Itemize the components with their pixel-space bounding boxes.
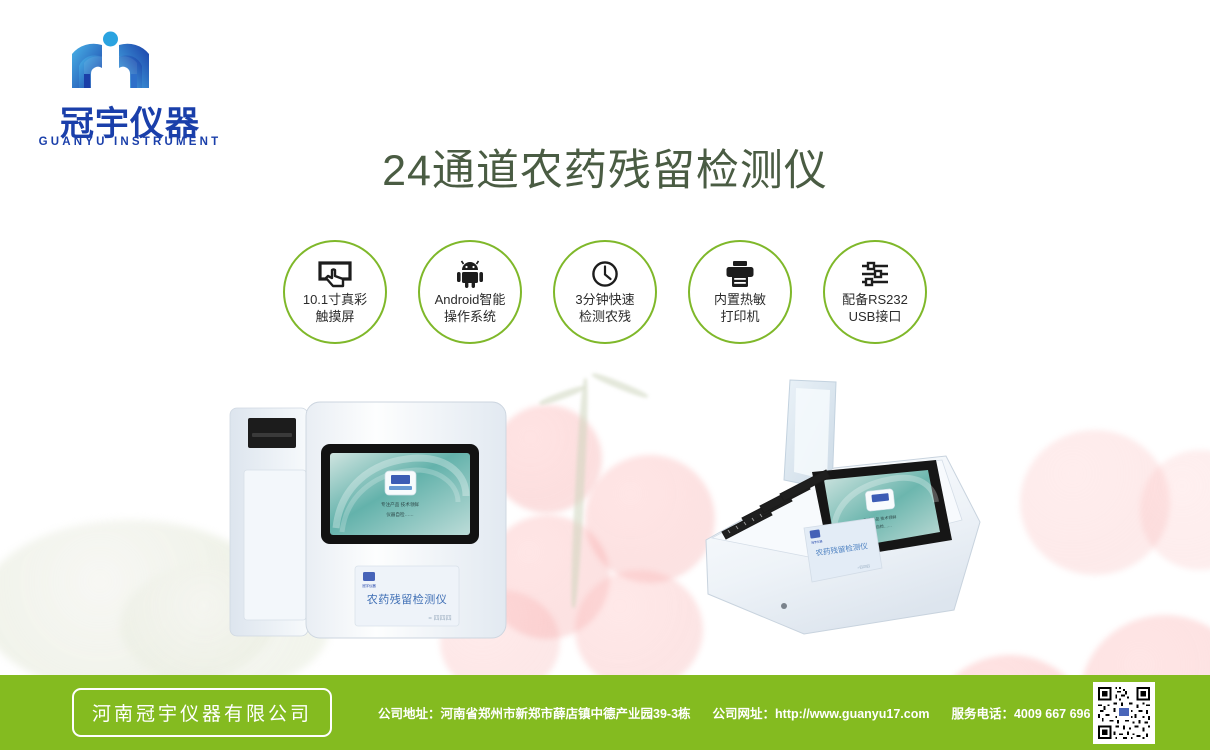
feature-line1: 3分钟快速 bbox=[575, 292, 634, 307]
sliders-icon bbox=[860, 259, 890, 289]
page-title: 24通道农药残留检测仪 bbox=[0, 136, 1210, 198]
feature-line1: 配备RS232 bbox=[842, 292, 908, 307]
feature-label: Android智能 操作系统 bbox=[435, 292, 506, 325]
panel-brand: 冠宇仪器 bbox=[362, 583, 376, 588]
feature-label: 3分钟快速 检测农残 bbox=[575, 292, 634, 325]
tomato-vine-branch-1 bbox=[591, 371, 649, 400]
feature-line2: 触摸屏 bbox=[315, 309, 354, 324]
footer-contact-info: 公司地址：河南省郑州市新郑市薛店镇中德产业园39-3栋 公司网址：http://… bbox=[378, 703, 1090, 722]
feature-label: 内置热敏 打印机 bbox=[714, 292, 766, 325]
company-website[interactable]: 公司网址：http://www.guanyu17.com bbox=[713, 703, 930, 722]
feature-list: 10.1寸真彩 触摸屏 Android智能 bbox=[0, 240, 1210, 355]
feature-line2: 检测农残 bbox=[579, 309, 631, 324]
screen-line2: 仪器自检…… bbox=[386, 511, 414, 518]
feature-thermal-printer[interactable]: 内置热敏 打印机 bbox=[688, 240, 792, 344]
qr-code-icon[interactable] bbox=[1093, 682, 1155, 744]
tomato-right-4 bbox=[1140, 450, 1210, 570]
clock-icon bbox=[591, 259, 619, 289]
screen-line1: 专注产品 技术领鲜 bbox=[381, 501, 419, 508]
footer-bar: 河南冠宇仪器有限公司 公司地址：河南省郑州市新郑市薛店镇中德产业园39-3栋 公… bbox=[0, 675, 1210, 750]
feature-line1: Android智能 bbox=[435, 292, 506, 307]
company-logo: 冠宇仪器 GUANYU INSTRUMENT bbox=[30, 24, 230, 144]
feature-line1: 10.1寸真彩 bbox=[303, 292, 367, 307]
service-phone: 服务电话：4009 667 696 bbox=[951, 703, 1090, 722]
feature-line2: 操作系统 bbox=[444, 309, 496, 324]
android-robot-icon bbox=[455, 259, 485, 289]
guanyu-book-person-logo-icon bbox=[63, 30, 158, 92]
feature-label: 10.1寸真彩 触摸屏 bbox=[303, 292, 367, 325]
company-address: 公司地址：河南省郑州市新郑市薛店镇中德产业园39-3栋 bbox=[378, 703, 691, 722]
feature-android-os[interactable]: Android智能 操作系统 bbox=[418, 240, 522, 344]
printer-icon bbox=[725, 259, 755, 289]
product-image-benchtop-analyzer: 专注产品 技术领鲜 仪器自检…… 冠宇仪器 农药残留检测仪 = 四四四 bbox=[228, 398, 508, 646]
product-image-angled-analyzer: 专注产品 技术领鲜 仪器自检…… 冠宇仪器 农药残留检测仪 =四四四 bbox=[684, 372, 994, 650]
tomato-center-1 bbox=[492, 405, 602, 513]
feature-label: 配备RS232 USB接口 bbox=[842, 292, 908, 325]
touch-screen-icon bbox=[318, 259, 352, 289]
panel-label: 农药残留检测仪 bbox=[367, 592, 448, 606]
feature-touch-screen[interactable]: 10.1寸真彩 触摸屏 bbox=[283, 240, 387, 344]
feature-line2: 打印机 bbox=[720, 309, 759, 324]
company-name-badge: 河南冠宇仪器有限公司 bbox=[72, 688, 332, 737]
tomato-right-3 bbox=[1020, 430, 1170, 575]
product-poster: 冠宇仪器 GUANYU INSTRUMENT 24通道农药残留检测仪 10.1寸… bbox=[0, 0, 1210, 750]
tomato-vine-stem bbox=[569, 378, 590, 608]
feature-rs232-usb[interactable]: 配备RS232 USB接口 bbox=[823, 240, 927, 344]
tomato-vine-branch-2 bbox=[538, 384, 585, 407]
feature-fast-detection[interactable]: 3分钟快速 检测农残 bbox=[553, 240, 657, 344]
panel-mark: = 四四四 bbox=[428, 615, 451, 622]
feature-line1: 内置热敏 bbox=[714, 292, 766, 307]
feature-line2: USB接口 bbox=[849, 309, 902, 324]
